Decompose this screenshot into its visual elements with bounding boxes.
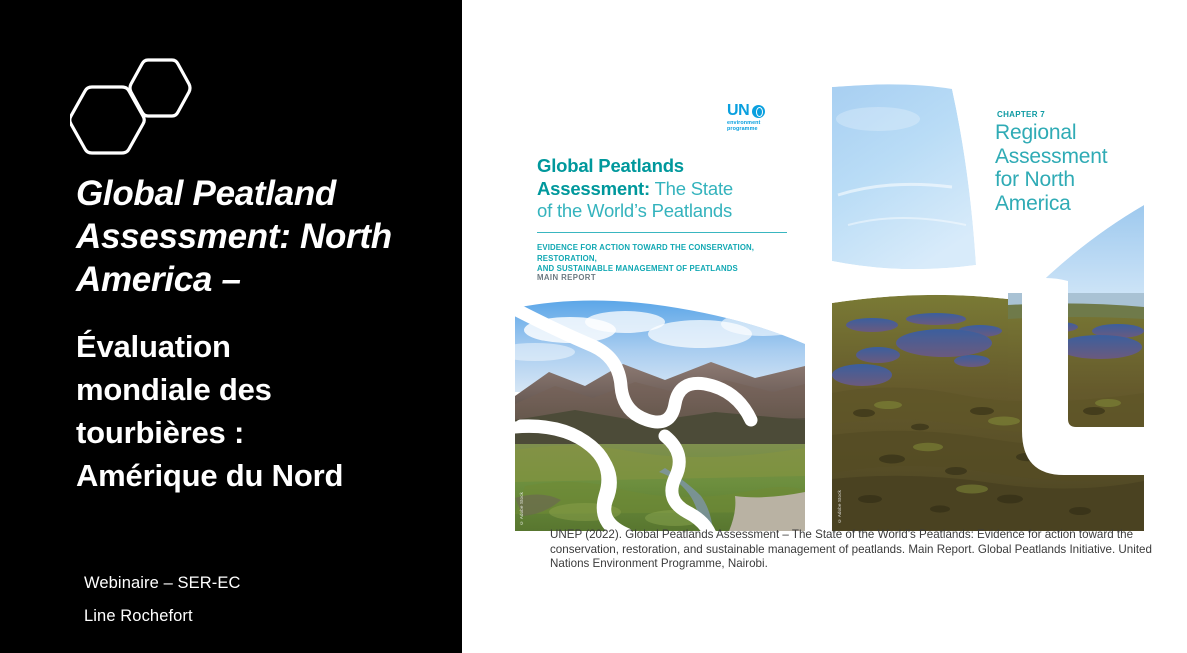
cover-photo: © Adobe Stock (515, 300, 805, 531)
cover-title-bold: Global Peatlands (537, 155, 684, 176)
chapter-photo-credit: © Adobe Stock (837, 490, 842, 523)
unep-wordmark: UN (727, 103, 749, 119)
un-globe-icon (752, 105, 765, 118)
footer-presenter-name: Line Rochefort (84, 607, 193, 626)
chapter-label: CHAPTER 7 (997, 110, 1045, 119)
cover-title-light-1: The State (650, 178, 733, 199)
unep-logo: UN environment programme (727, 103, 789, 133)
global-peatlands-initiative-logo: Global Peatlands Initiative (803, 100, 805, 126)
chapter-title-line-1: Regional (995, 121, 1144, 145)
slide: Global Peatland Assessment: North Americ… (0, 0, 1187, 653)
unep-subtitle-line-2: programme (727, 126, 789, 132)
main-report-cover: UN environment programme Global Peatland… (513, 75, 805, 531)
cover-evidence-line-1: EVIDENCE FOR ACTION TOWARD THE CONSERVAT… (537, 243, 799, 264)
gpi-word-line-3: Initiative (803, 117, 805, 125)
title-french-line-4: Amérique du Nord (76, 454, 446, 497)
footer-event-label: Webinaire – SER-EC (84, 574, 240, 593)
cover-photo-credit: © Adobe Stock (519, 492, 524, 525)
citation-text: UNEP (2022). Global Peatlands Assessment… (550, 528, 1180, 572)
hexagon-pair-logo (70, 56, 195, 158)
slide-title-french: Évaluation mondiale des tourbières : Amé… (76, 325, 446, 497)
chapter-cover: CHAPTER 7 Regional Assessment for North … (832, 75, 1144, 531)
cover-title-bold-2: Assessment: (537, 178, 650, 199)
chapter-title-line-4: America (995, 192, 1144, 216)
chapter-title-line-2: Assessment (995, 145, 1144, 169)
title-french-line-3: tourbières : (76, 411, 446, 454)
title-french-line-1: Évaluation (76, 325, 446, 368)
gpi-word-line-2: Peatlands (803, 110, 805, 118)
unep-subtitle: environment programme (727, 120, 789, 133)
chapter-title: Regional Assessment for North America (995, 121, 1144, 215)
left-title-panel: Global Peatland Assessment: North Americ… (0, 0, 462, 653)
right-content-area: UN environment programme Global Peatland… (462, 0, 1187, 653)
cover-evidence-subtitle: EVIDENCE FOR ACTION TOWARD THE CONSERVAT… (537, 243, 799, 275)
chapter-title-line-3: for North (995, 168, 1144, 192)
cover-title-light-2: of the World’s Peatlands (537, 200, 732, 221)
cover-divider-rule (537, 232, 787, 233)
cover-report-label: MAIN REPORT (537, 273, 596, 282)
gpi-wordmark: Global Peatlands Initiative (803, 100, 805, 125)
cover-title: Global Peatlands Assessment: The State o… (537, 155, 787, 223)
gpi-word-line-1: Global (803, 102, 805, 110)
slide-title-english: Global Peatland Assessment: North Americ… (76, 172, 436, 301)
cover-logos-row: UN environment programme Global Peatland… (727, 100, 805, 140)
title-french-line-2: mondiale des (76, 368, 446, 411)
